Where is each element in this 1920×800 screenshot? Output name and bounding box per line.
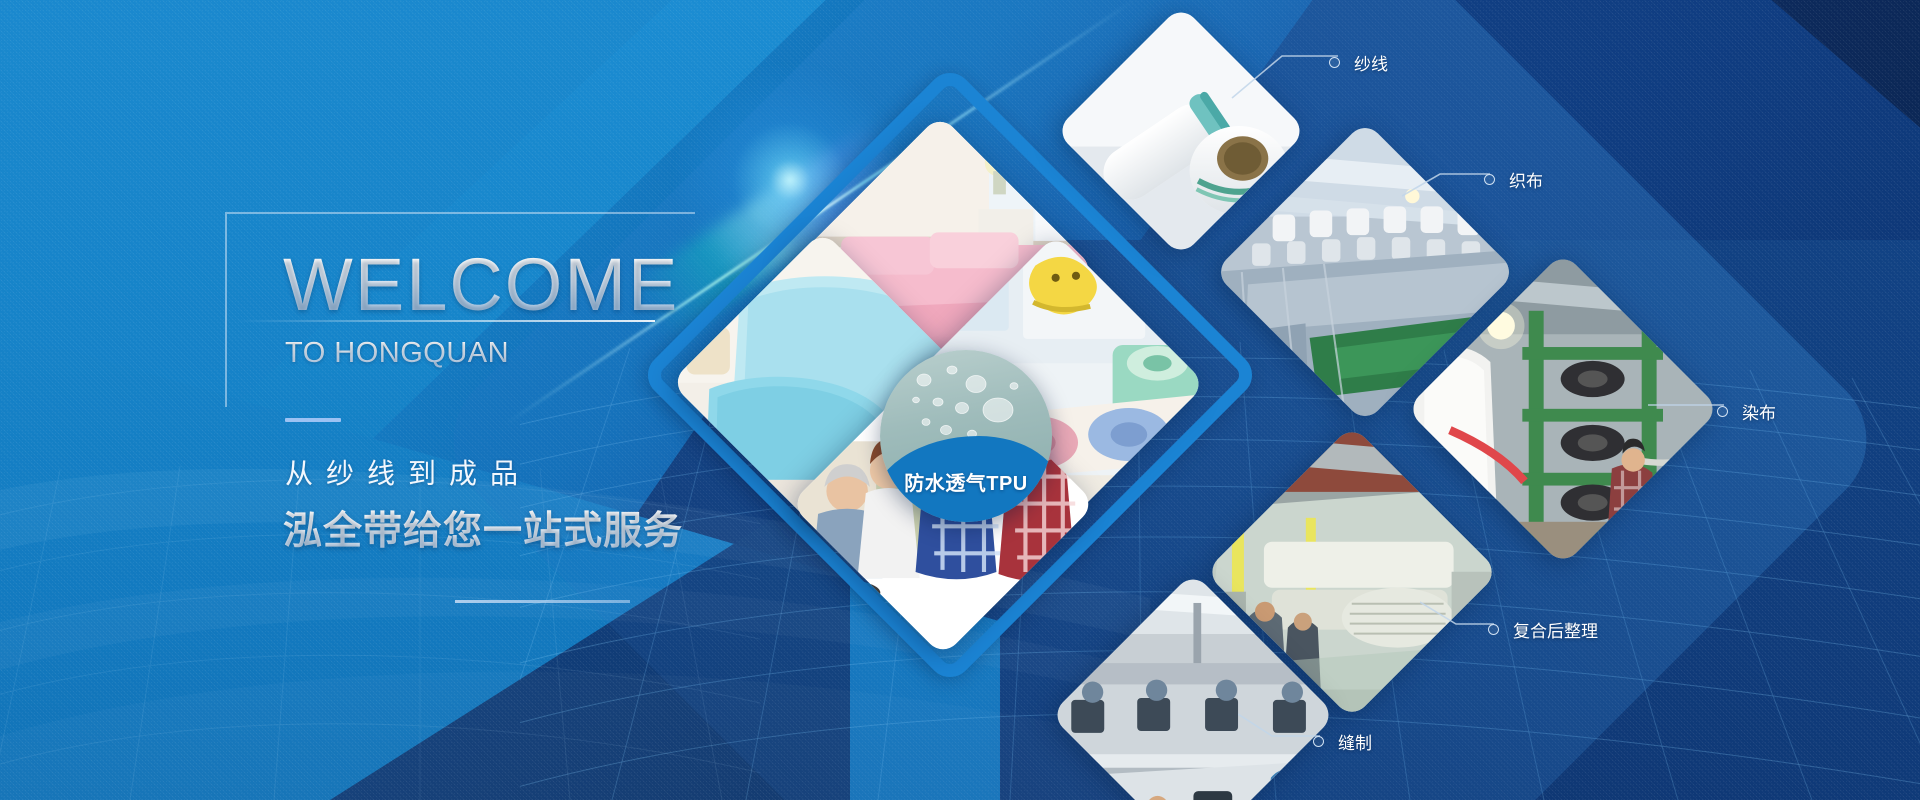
callout-dot-icon bbox=[1488, 624, 1499, 635]
welcome-subtitle: TO HONGQUAN bbox=[285, 337, 509, 370]
accent-rule bbox=[285, 418, 341, 422]
feature-badge[interactable]: 防水透气TPU bbox=[880, 350, 1052, 522]
bottom-accent-rule bbox=[455, 600, 630, 603]
welcome-banner: WELCOME TO HONGQUAN 从纱线到成品 泓全带给您一站式服务 bbox=[0, 0, 1920, 800]
headline-cn: 泓全带给您一站式服务 bbox=[283, 500, 683, 556]
callout-label-finishing: 复合后整理 bbox=[1513, 617, 1598, 642]
callout-label-yarn: 纱线 bbox=[1354, 50, 1388, 75]
callout-finishing[interactable]: 复合后整理 bbox=[1488, 617, 1598, 642]
leader-line-finishing bbox=[1420, 600, 1496, 630]
leader-line-weaving bbox=[1400, 170, 1492, 200]
leader-line-yarn bbox=[1230, 50, 1340, 100]
callout-label-dyeing: 染布 bbox=[1742, 399, 1776, 424]
callout-dyeing[interactable]: 染布 bbox=[1717, 399, 1776, 424]
callout-label-sewing: 缝制 bbox=[1338, 729, 1372, 754]
tagline-cn: 从纱线到成品 bbox=[285, 452, 531, 492]
callout-dot-icon bbox=[1717, 406, 1728, 417]
callout-yarn[interactable]: 纱线 bbox=[1329, 50, 1388, 75]
callout-sewing[interactable]: 缝制 bbox=[1313, 729, 1372, 754]
callout-dot-icon bbox=[1313, 736, 1324, 747]
leader-line-sewing bbox=[1238, 712, 1322, 742]
leader-line-dyeing bbox=[1648, 398, 1726, 412]
callout-weaving[interactable]: 织布 bbox=[1484, 167, 1543, 192]
badge-label: 防水透气TPU bbox=[880, 467, 1052, 496]
welcome-title: WELCOME bbox=[283, 248, 679, 322]
callout-dot-icon bbox=[1484, 174, 1495, 185]
callout-dot-icon bbox=[1329, 57, 1340, 68]
callout-label-weaving: 织布 bbox=[1509, 167, 1543, 192]
